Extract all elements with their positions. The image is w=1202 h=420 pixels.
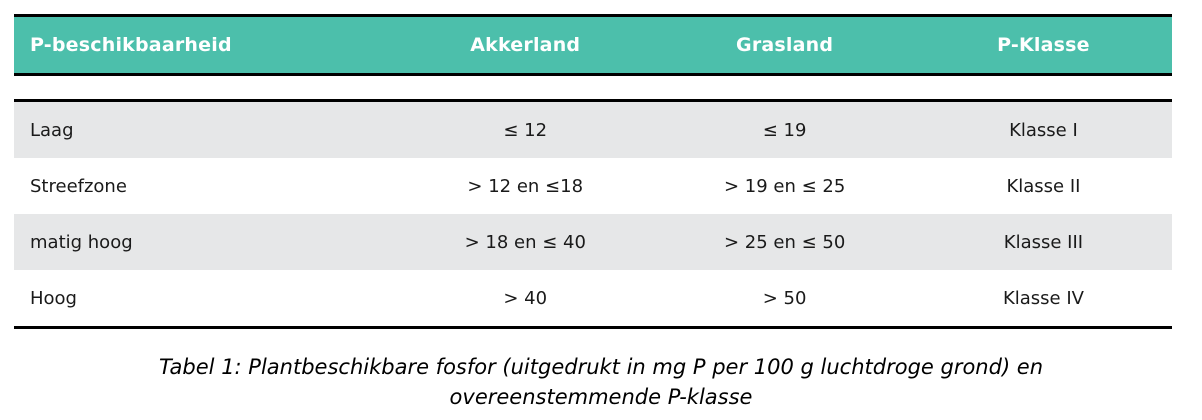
- table-row: Streefzone > 12 en ≤18 > 19 en ≤ 25 Klas…: [14, 158, 1172, 214]
- cell-beschikbaarheid: matig hoog: [14, 214, 396, 270]
- cell-beschikbaarheid: Hoog: [14, 270, 396, 328]
- cell-klasse: Klasse II: [915, 158, 1172, 214]
- column-header-akkerland: Akkerland: [396, 16, 654, 75]
- table-container: P-beschikbaarheid Akkerland Grasland P-K…: [14, 14, 1172, 329]
- cell-akkerland: > 18 en ≤ 40: [396, 214, 654, 270]
- cell-akkerland: > 40: [396, 270, 654, 328]
- cell-beschikbaarheid: Laag: [14, 101, 396, 159]
- spacer-cell: [654, 75, 915, 101]
- cell-grasland: > 19 en ≤ 25: [654, 158, 915, 214]
- caption-line-2: overeenstemmende P-klasse: [60, 382, 1142, 412]
- table-figure: P-beschikbaarheid Akkerland Grasland P-K…: [0, 0, 1202, 420]
- cell-klasse: Klasse I: [915, 101, 1172, 159]
- table-body: Laag ≤ 12 ≤ 19 Klasse I Streefzone > 12 …: [14, 75, 1172, 328]
- cell-grasland: > 25 en ≤ 50: [654, 214, 915, 270]
- table-header: P-beschikbaarheid Akkerland Grasland P-K…: [14, 16, 1172, 75]
- header-row: P-beschikbaarheid Akkerland Grasland P-K…: [14, 16, 1172, 75]
- table-row: Hoog > 40 > 50 Klasse IV: [14, 270, 1172, 328]
- p-availability-table: P-beschikbaarheid Akkerland Grasland P-K…: [14, 14, 1172, 329]
- cell-grasland: > 50: [654, 270, 915, 328]
- cell-grasland: ≤ 19: [654, 101, 915, 159]
- table-caption: Tabel 1: Plantbeschikbare fosfor (uitged…: [60, 352, 1142, 412]
- column-header-p-beschikbaarheid: P-beschikbaarheid: [14, 16, 396, 75]
- header-spacer-row: [14, 75, 1172, 101]
- spacer-cell: [14, 75, 396, 101]
- spacer-cell: [396, 75, 654, 101]
- cell-akkerland: > 12 en ≤18: [396, 158, 654, 214]
- table-row: matig hoog > 18 en ≤ 40 > 25 en ≤ 50 Kla…: [14, 214, 1172, 270]
- column-header-grasland: Grasland: [654, 16, 915, 75]
- column-header-p-klasse: P-Klasse: [915, 16, 1172, 75]
- cell-klasse: Klasse III: [915, 214, 1172, 270]
- cell-akkerland: ≤ 12: [396, 101, 654, 159]
- spacer-cell: [915, 75, 1172, 101]
- caption-line-1: Tabel 1: Plantbeschikbare fosfor (uitged…: [60, 352, 1142, 382]
- cell-klasse: Klasse IV: [915, 270, 1172, 328]
- cell-beschikbaarheid: Streefzone: [14, 158, 396, 214]
- table-row: Laag ≤ 12 ≤ 19 Klasse I: [14, 101, 1172, 159]
